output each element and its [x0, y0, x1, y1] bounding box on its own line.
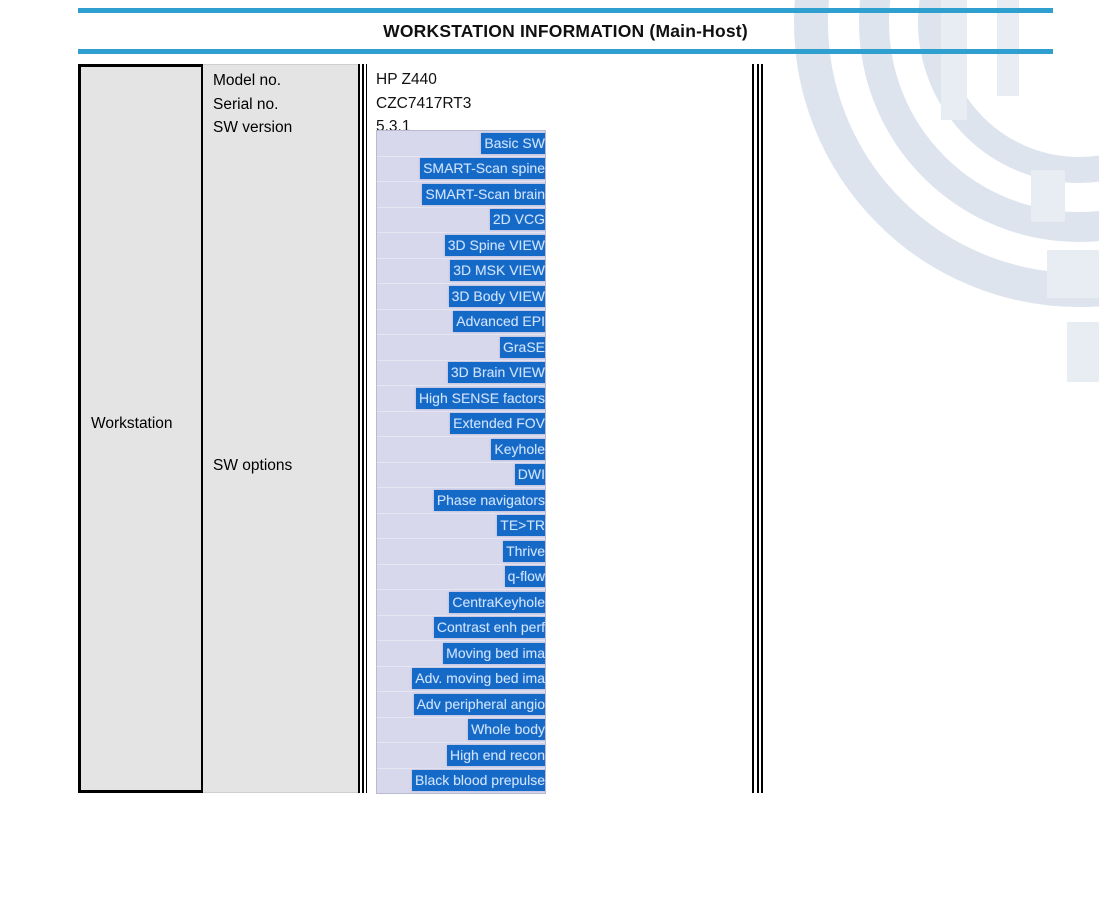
sw-option-row[interactable]: CentraKeyhole [377, 590, 545, 616]
field-label-serial-no: Serial no. [213, 93, 358, 117]
sw-option-label[interactable]: Thrive [503, 541, 546, 562]
value-cell: HP Z440 CZC7417RT3 5.3.1 Basic SWSMART-S… [367, 64, 752, 793]
sw-option-label[interactable]: CentraKeyhole [449, 592, 546, 613]
value-serial-no: CZC7417RT3 [376, 92, 752, 116]
page-header: WORKSTATION INFORMATION (Main-Host) [78, 8, 1053, 54]
sw-option-row[interactable]: 2D VCG [377, 208, 545, 234]
sw-option-row[interactable]: High SENSE factors [377, 386, 545, 412]
sw-option-label[interactable]: Black blood prepulse [412, 770, 546, 791]
sw-option-row[interactable]: Phase navigators [377, 488, 545, 514]
sw-option-label[interactable]: GraSE [500, 337, 546, 358]
workstation-info-table: Workstation Model no. Serial no. SW vers… [78, 64, 752, 793]
sw-option-label[interactable]: Contrast enh perf [434, 617, 546, 638]
sw-option-row[interactable]: 3D MSK VIEW [377, 259, 545, 285]
sw-option-label[interactable]: Adv peripheral angio [414, 694, 546, 715]
sw-option-label[interactable]: Adv. moving bed ima [412, 668, 546, 689]
sw-option-row[interactable]: Adv peripheral angio [377, 692, 545, 718]
sw-option-row[interactable]: 3D Brain VIEW [377, 361, 545, 387]
sw-option-label[interactable]: Phase navigators [434, 490, 546, 511]
sw-option-label[interactable]: SMART-Scan brain [422, 184, 546, 205]
sw-option-row[interactable]: Advanced EPI [377, 310, 545, 336]
sw-option-row[interactable]: Extended FOV [377, 412, 545, 438]
sw-option-label[interactable]: DWI [515, 464, 546, 485]
sw-option-label[interactable]: High SENSE factors [416, 388, 546, 409]
sw-option-label[interactable]: 3D Brain VIEW [448, 362, 546, 383]
sw-option-label[interactable]: Basic SW [481, 133, 546, 154]
category-label: Workstation [91, 415, 173, 433]
sw-option-label[interactable]: Moving bed ima [443, 643, 546, 664]
sw-option-row[interactable]: SMART-Scan spine [377, 157, 545, 183]
sw-option-label[interactable]: 3D Spine VIEW [445, 235, 546, 256]
right-column-divider [752, 64, 763, 793]
sw-option-row[interactable]: Thrive [377, 539, 545, 565]
sw-option-row[interactable]: Whole body [377, 718, 545, 744]
sw-option-row[interactable]: Moving bed ima [377, 641, 545, 667]
sw-option-label[interactable]: Whole body [468, 719, 546, 740]
header-rule-bottom [78, 49, 1053, 54]
sw-option-label[interactable]: 3D MSK VIEW [450, 260, 546, 281]
sw-option-row[interactable]: Keyhole [377, 437, 545, 463]
column-divider [358, 64, 367, 793]
sw-option-row[interactable]: TE>TR [377, 514, 545, 540]
sw-option-row[interactable]: SMART-Scan brain [377, 182, 545, 208]
sw-options-listbox[interactable]: Basic SWSMART-Scan spineSMART-Scan brain… [376, 130, 546, 794]
sw-option-row[interactable]: 3D Body VIEW [377, 284, 545, 310]
field-label-model-no: Model no. [213, 69, 358, 93]
sw-option-row[interactable]: Adv. moving bed ima [377, 667, 545, 693]
sw-option-label[interactable]: Keyhole [491, 439, 546, 460]
field-label-cell: Model no. Serial no. SW version SW optio… [203, 64, 358, 793]
sw-option-label[interactable]: TE>TR [497, 515, 546, 536]
value-model-no: HP Z440 [376, 68, 752, 92]
page-title: WORKSTATION INFORMATION (Main-Host) [78, 13, 1053, 49]
sw-option-label[interactable]: Advanced EPI [453, 311, 546, 332]
category-cell: Workstation [78, 64, 203, 793]
sw-option-row[interactable]: 3D Spine VIEW [377, 233, 545, 259]
sw-option-row[interactable]: q-flow [377, 565, 545, 591]
sw-option-row[interactable]: DWI [377, 463, 545, 489]
sw-option-row[interactable]: Contrast enh perf [377, 616, 545, 642]
sw-option-row[interactable]: GraSE [377, 335, 545, 361]
sw-option-label[interactable]: Extended FOV [450, 413, 546, 434]
sw-option-row[interactable]: Black blood prepulse [377, 769, 545, 795]
field-label-sw-options: SW options [213, 457, 292, 475]
sw-option-row[interactable]: High end recon [377, 743, 545, 769]
sw-option-label[interactable]: 3D Body VIEW [449, 286, 546, 307]
sw-option-label[interactable]: q-flow [505, 566, 546, 587]
sw-option-label[interactable]: 2D VCG [490, 209, 546, 230]
sw-option-label[interactable]: High end recon [447, 745, 546, 766]
field-label-sw-version: SW version [213, 116, 358, 140]
sw-option-row[interactable]: Basic SW [377, 131, 545, 157]
sw-option-label[interactable]: SMART-Scan spine [420, 158, 546, 179]
